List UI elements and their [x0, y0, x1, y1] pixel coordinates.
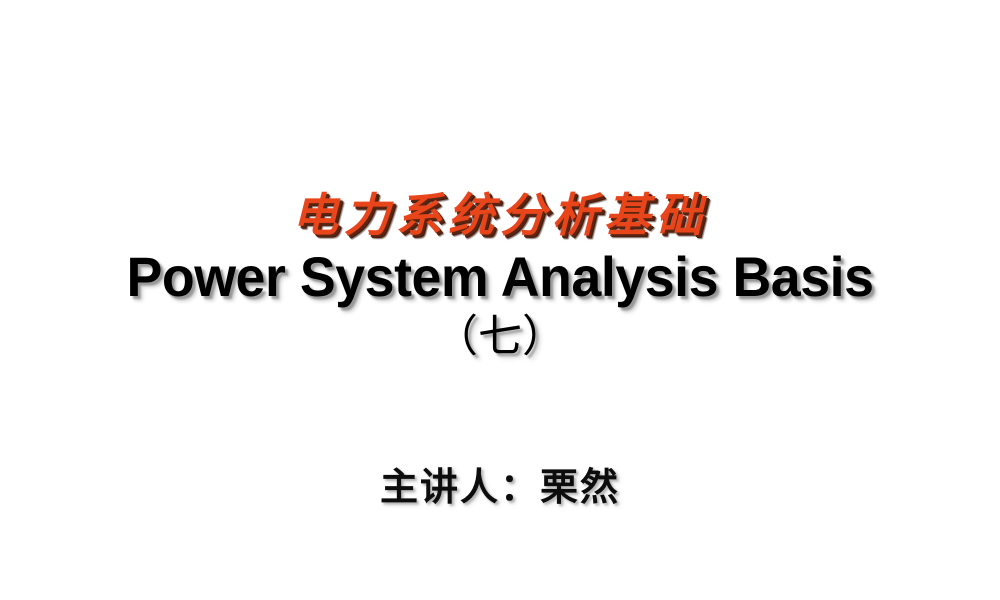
presentation-slide: 电力系统分析基础 Power System Analysis Basis （七）… [0, 0, 1000, 600]
course-title-chinese: 电力系统分析基础 [0, 186, 1000, 244]
presenter-block: 主讲人：栗然 [0, 463, 1000, 511]
slide-title-block: 电力系统分析基础 Power System Analysis Basis （七） [0, 186, 1000, 366]
course-part-number: （七） [0, 308, 1000, 366]
presenter-name-line: 主讲人：栗然 [0, 463, 1000, 511]
course-title-english: Power System Analysis Basis [20, 248, 980, 306]
